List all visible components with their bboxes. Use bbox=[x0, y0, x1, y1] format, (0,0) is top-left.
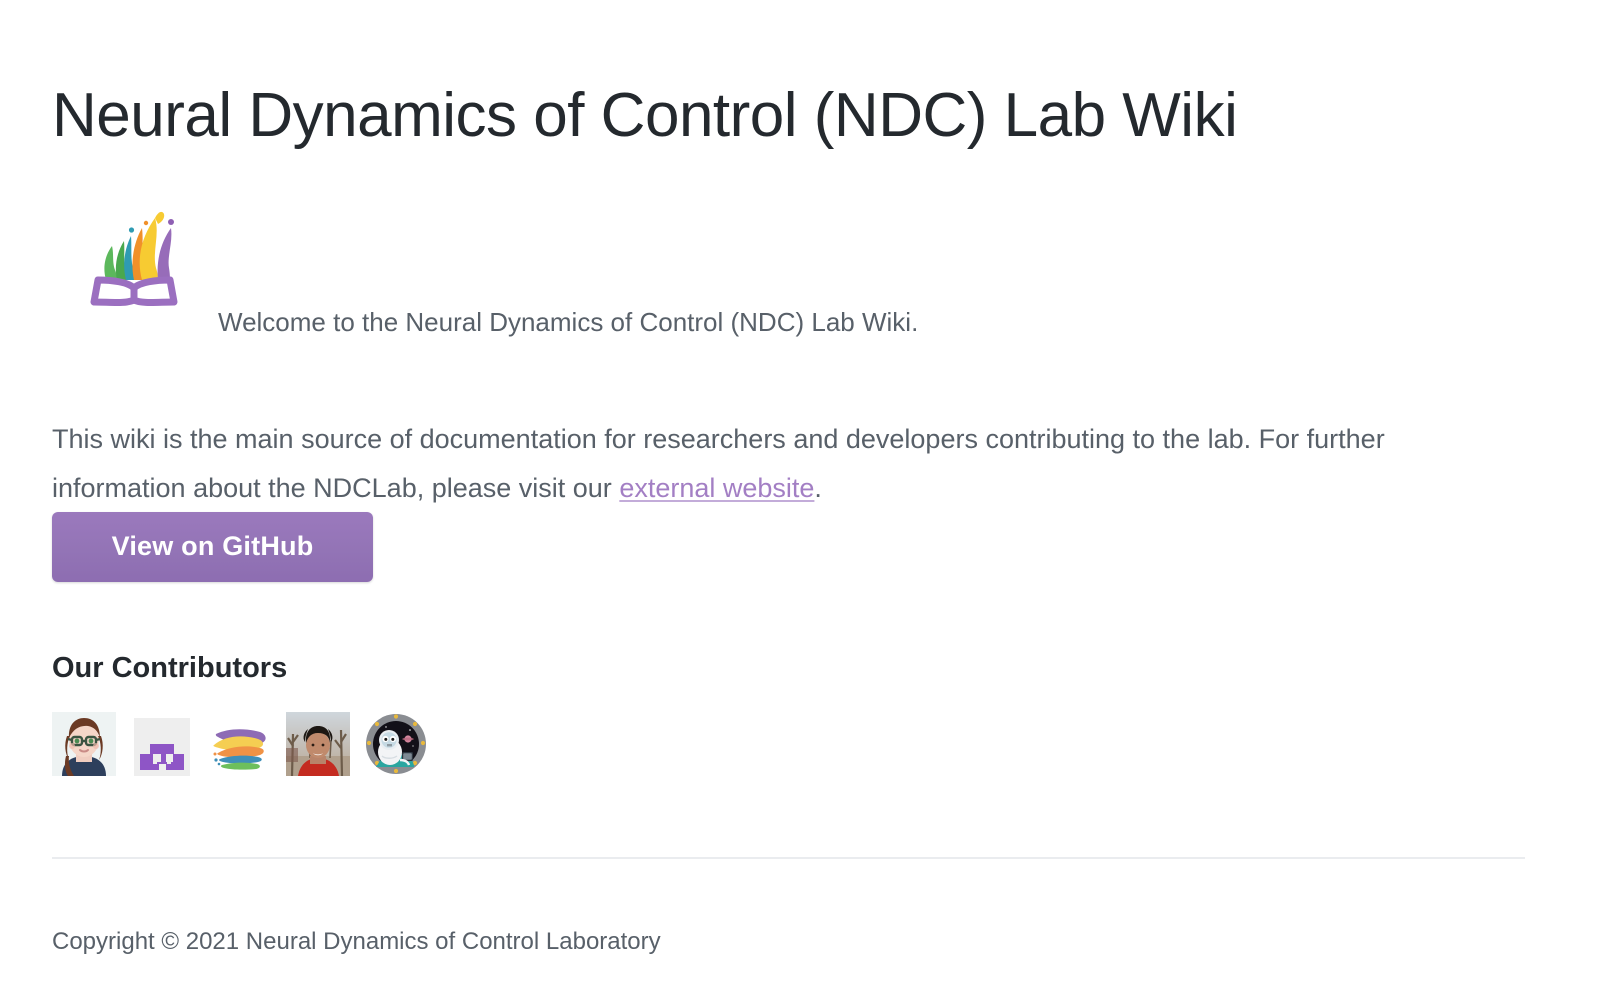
avatar-gopher-astronaut[interactable] bbox=[364, 712, 428, 776]
contributors-list bbox=[52, 712, 428, 776]
avatar-cartoon-woman-glasses[interactable] bbox=[52, 712, 116, 776]
footer-copyright: Copyright © 2021 Neural Dynamics of Cont… bbox=[52, 928, 661, 956]
avatar-colorful-swoosh-logo[interactable] bbox=[208, 712, 272, 776]
welcome-text: Welcome to the Neural Dynamics of Contro… bbox=[218, 304, 918, 340]
intro-sentence-2-suffix: . bbox=[814, 473, 822, 503]
page-title: Neural Dynamics of Control (NDC) Lab Wik… bbox=[52, 80, 1237, 151]
footer-divider bbox=[52, 857, 1525, 859]
avatar-purple-pixel-logo[interactable] bbox=[130, 712, 194, 776]
open-book-flame-logo bbox=[76, 196, 192, 312]
avatar-photo-red-jacket[interactable] bbox=[286, 712, 350, 776]
external-website-link[interactable]: external website bbox=[619, 473, 814, 503]
wiki-page: Neural Dynamics of Control (NDC) Lab Wik… bbox=[0, 0, 1598, 1004]
contributors-heading: Our Contributors bbox=[52, 652, 287, 685]
view-on-github-button[interactable]: View on GitHub bbox=[52, 512, 373, 582]
intro-paragraph: This wiki is the main source of document… bbox=[52, 415, 1512, 513]
intro-sentence-1: This wiki is the main source of document… bbox=[52, 424, 1251, 454]
